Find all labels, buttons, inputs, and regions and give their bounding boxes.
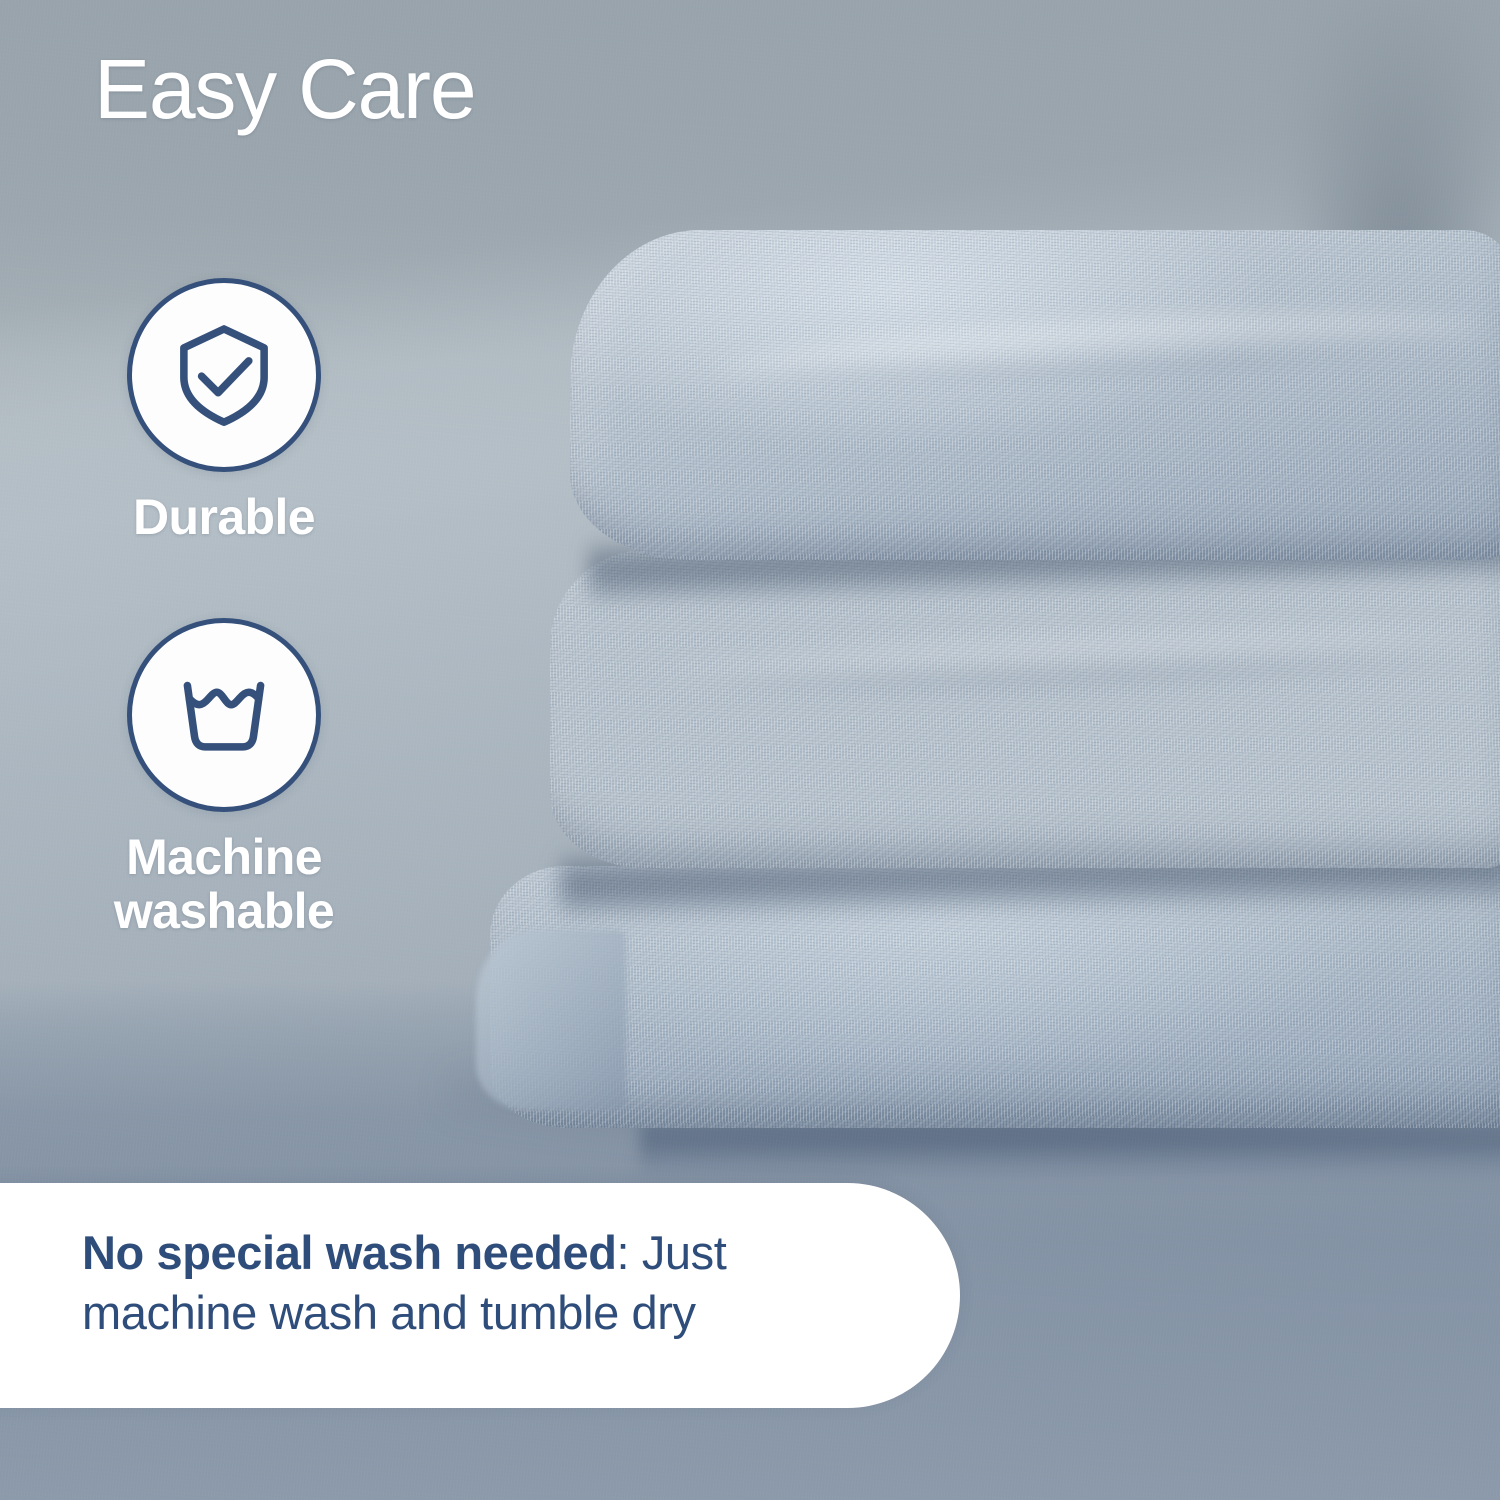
shield-check-icon [165, 316, 283, 434]
machine-wash-tub-icon [165, 656, 283, 774]
caption-text: No special wash needed: Just machine was… [82, 1223, 812, 1343]
feature-machine-washable-label-line-2: washable [74, 884, 374, 938]
feature-durable-label: Durable [74, 490, 374, 544]
feature-machine-washable-badge [127, 618, 321, 812]
feature-machine-washable-label-line-1: Machine [74, 830, 374, 884]
caption-separator: : [617, 1226, 630, 1279]
product-infographic: Easy Care Durable Machine washable [0, 0, 1500, 1500]
feature-durable-badge [127, 278, 321, 472]
page-title: Easy Care [94, 42, 475, 136]
feature-machine-washable: Machine washable [74, 618, 374, 938]
feature-machine-washable-label: Machine washable [74, 830, 374, 938]
caption-banner: No special wash needed: Just machine was… [0, 1183, 960, 1408]
feature-durable: Durable [74, 278, 374, 544]
caption-lead: No special wash needed [82, 1226, 617, 1279]
